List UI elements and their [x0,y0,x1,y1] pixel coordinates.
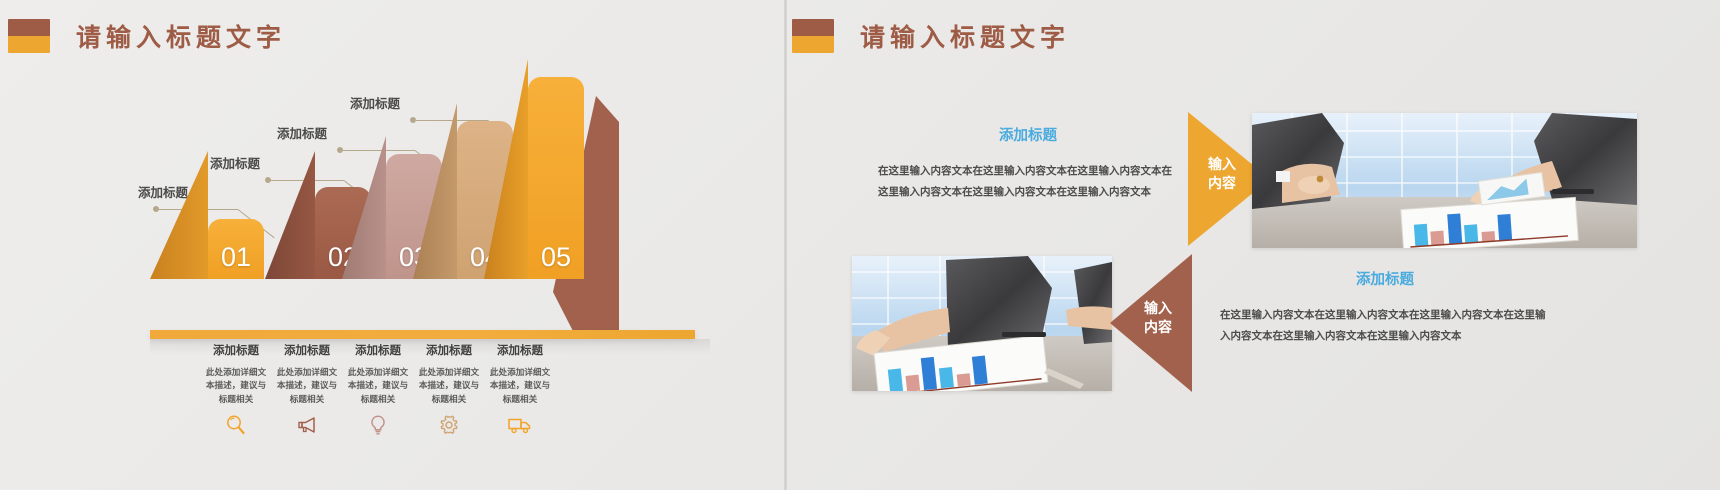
arrow-tag-1-label-line2: 内容 [1208,176,1236,192]
megaphone-icon [295,413,319,437]
right-text-block-1: 添加标题 在这里输入内容文本在这里输入内容文本在这里输入内容文本在这里输入内容文… [878,124,1178,203]
title-accent-bar [8,19,50,53]
bar-caption-3: 添加标题 此处添加详细文本描述，建议与标题相关 [346,342,410,437]
bar-5-number: 05 [528,242,584,273]
bar-caption-4: 添加标题 此处添加详细文本描述，建议与标题相关 [417,342,481,437]
bar-chart: 添加标题 添加标题 添加标题 添加标题 01 02 [0,60,784,490]
leader-line-3 [343,150,415,151]
bar-caption-5-title: 添加标题 [488,342,552,358]
right-slide: 请输入标题文字 添加标题 在这里输入内容文本在这里输入内容文本在这里输入内容文本… [784,0,1720,490]
arrow-tag-2-label: 输入 内容 [1132,300,1184,338]
title-bar-bottom [8,36,50,53]
right-title-bar-bottom [792,36,834,53]
photo-2[interactable] [852,256,1112,391]
photo-1[interactable] [1252,113,1637,248]
bar-caption-5: 添加标题 此处添加详细文本描述，建议与标题相关 [488,342,552,437]
arrow-tag-2[interactable]: 输入 内容 [1110,254,1192,392]
right-block-2-body: 在这里输入内容文本在这里输入内容文本在这里输入内容文本在这里输入内容文本在这里输… [1220,305,1550,347]
right-title-bar-top [792,19,834,36]
bar-caption-5-desc: 此处添加详细文本描述，建议与标题相关 [488,367,552,407]
gear-icon [437,413,461,437]
bar-caption-2-icon-wrap [275,413,339,437]
callout-label-1: 添加标题 [138,182,188,201]
right-block-1-heading: 添加标题 [878,124,1178,145]
bar-1-number: 01 [208,242,264,273]
callout-label-2: 添加标题 [210,153,260,172]
bar-caption-5-icon-wrap [488,413,552,437]
bar-2-side [265,151,315,279]
arrow-tag-2-label-line2: 内容 [1144,320,1172,336]
arrow-tag-2-label-line1: 输入 [1144,301,1172,317]
bar-caption-3-desc: 此处添加详细文本描述，建议与标题相关 [346,367,410,407]
lightbulb-icon [366,413,390,437]
arrow-tag-1-label-line1: 输入 [1208,157,1236,173]
slide-canvas: 请输入标题文字 添加标题 添加标题 添加标题 添加标题 01 [0,0,1720,490]
truck-icon [507,413,533,437]
callout-label-3: 添加标题 [277,123,327,142]
right-title-block: 请输入标题文字 [792,18,1070,54]
bar-caption-2: 添加标题 此处添加详细文本描述，建议与标题相关 [275,342,339,437]
left-page-title: 请输入标题文字 [76,18,286,54]
chart-baseline [150,330,695,339]
business-meeting-photo-1 [1252,113,1637,248]
right-text-block-2: 添加标题 在这里输入内容文本在这里输入内容文本在这里输入内容文本在这里输入内容文… [1220,268,1550,347]
magnifier-icon [224,413,248,437]
right-page-title: 请输入标题文字 [860,18,1070,54]
bar-caption-1-desc: 此处添加详细文本描述，建议与标题相关 [204,367,268,407]
bar-caption-1-icon-wrap [204,413,268,437]
right-block-1-body: 在这里输入内容文本在这里输入内容文本在这里输入内容文本在这里输入内容文本在这里输… [878,161,1178,203]
business-meeting-photo-2 [852,256,1112,391]
bar-caption-1: 添加标题 此处添加详细文本描述，建议与标题相关 [204,342,268,437]
bar-caption-1-title: 添加标题 [204,342,268,358]
bar-5: 05 [528,77,584,279]
bar-caption-3-icon-wrap [346,413,410,437]
bar-caption-4-title: 添加标题 [417,342,481,358]
right-block-2-heading: 添加标题 [1220,268,1550,289]
callout-label-4: 添加标题 [350,93,400,112]
right-title-accent-bar [792,19,834,53]
bar-1: 01 [208,219,264,279]
arrow-tag-1-label: 输入 内容 [1196,156,1248,194]
bar-caption-3-title: 添加标题 [346,342,410,358]
bar-caption-4-icon-wrap [417,413,481,437]
title-bar-top [8,19,50,36]
bar-caption-4-desc: 此处添加详细文本描述，建议与标题相关 [417,367,481,407]
bar-1-side [150,151,208,279]
left-title-block: 请输入标题文字 [8,18,286,54]
bar-caption-2-title: 添加标题 [275,342,339,358]
bar-caption-2-desc: 此处添加详细文本描述，建议与标题相关 [275,367,339,407]
